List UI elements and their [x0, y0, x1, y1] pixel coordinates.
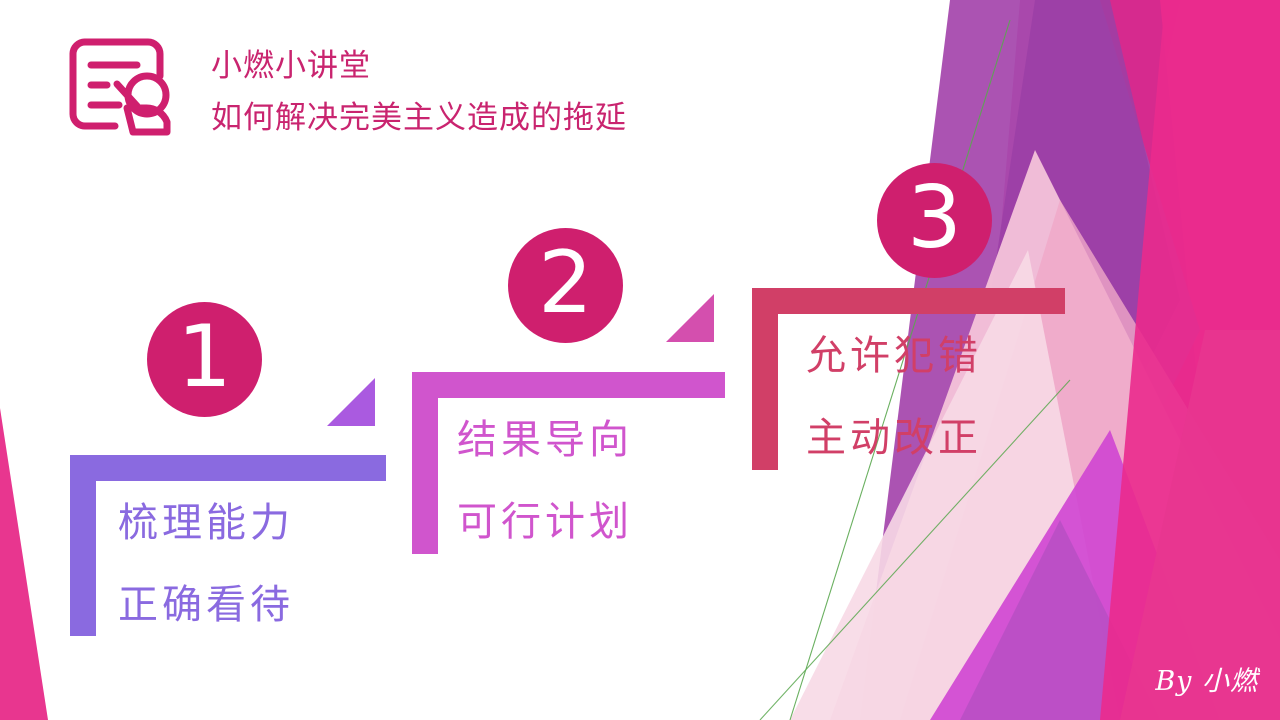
step-2-line-1: 结果导向: [457, 399, 633, 481]
step-3-text-block: 允许犯错 主动改正: [806, 315, 982, 479]
step-1-line-1: 梳理能力: [118, 482, 294, 564]
step-2-number-badge: 2: [508, 228, 623, 343]
step-2-bracket-top: [412, 372, 725, 398]
page-title: 小燃小讲堂: [211, 40, 627, 92]
presentation-board-person-icon: [55, 28, 173, 140]
slide-canvas: 小燃小讲堂 如何解决完美主义造成的拖延 1 梳理能力 正确看待 2 结果导向 可…: [0, 0, 1280, 720]
bg-shape-right-magenta-2: [1020, 0, 1280, 720]
step-1-bracket-left: [70, 455, 96, 636]
step-2-bracket-left: [412, 372, 438, 554]
step-1-triangle-accent: [327, 378, 375, 426]
author-signature: By 小燃: [1155, 659, 1258, 698]
bg-shape-violet-wedge: [960, 520, 1160, 720]
slide-header: 小燃小讲堂 如何解决完美主义造成的拖延: [55, 28, 627, 144]
step-1-text-block: 梳理能力 正确看待: [118, 482, 294, 646]
step-3-bracket-left: [752, 288, 778, 470]
step-2-triangle-accent: [666, 294, 714, 342]
bg-shape-left-wedge: [0, 408, 48, 720]
step-3-number-badge: 3: [877, 163, 992, 278]
step-1-number-badge: 1: [147, 302, 262, 417]
step-2-text-block: 结果导向 可行计划: [457, 399, 633, 563]
step-2-line-2: 可行计划: [457, 481, 633, 563]
step-3-bracket-top: [752, 288, 1065, 314]
step-1-line-2: 正确看待: [118, 564, 294, 646]
step-1-bracket-top: [70, 455, 386, 481]
bg-shape-pink-overlay: [1100, 0, 1280, 720]
page-subtitle: 如何解决完美主义造成的拖延: [211, 92, 627, 144]
bg-shape-mid-magenta: [960, 0, 1230, 720]
bg-shape-purple-dark: [990, 0, 1180, 560]
step-3-line-1: 允许犯错: [806, 315, 982, 397]
header-text-block: 小燃小讲堂 如何解决完美主义造成的拖延: [211, 28, 627, 144]
step-3-line-2: 主动改正: [806, 397, 982, 479]
